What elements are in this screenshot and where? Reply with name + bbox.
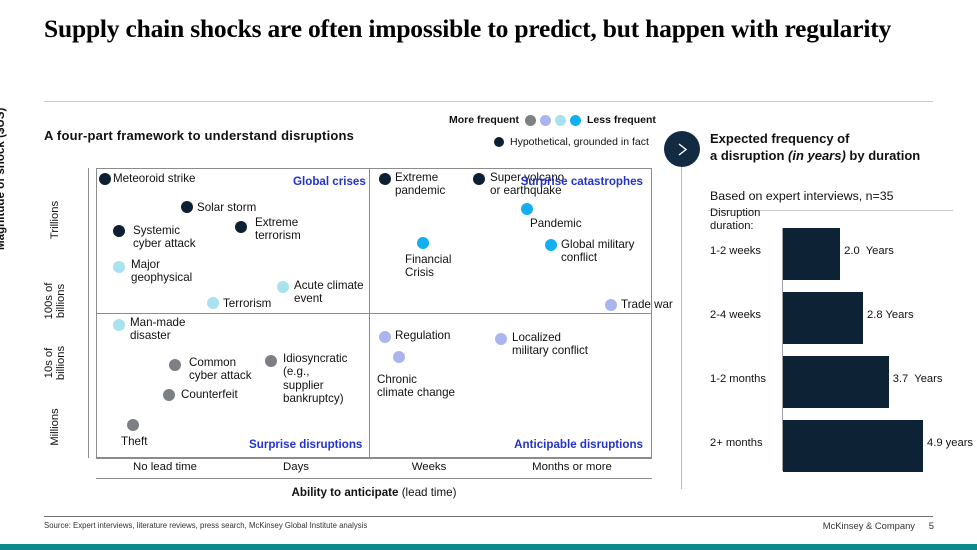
matrix-point-dot: [473, 173, 485, 185]
bar-value-label: 2.0 Years: [844, 245, 894, 257]
matrix-point-dot: [265, 355, 277, 367]
bar-value-label: 4.9 years: [927, 437, 973, 449]
frequency-bar-chart: 1-2 weeks2.0 Years2-4 weeks2.8 Years1-2 …: [710, 228, 955, 473]
hypothetical-legend: Hypothetical, grounded in fact: [494, 136, 649, 148]
matrix-point-dot: [127, 419, 139, 431]
frequency-legend: More frequent Less frequent: [449, 114, 656, 126]
bar-value-label: 2.8 Years: [867, 309, 914, 321]
matrix-point-label: Regulation: [395, 329, 450, 342]
bar-rect: [783, 356, 889, 408]
legend-dot-periwinkle: [540, 115, 551, 126]
matrix-point-dot: [169, 359, 181, 371]
x-axis-tick: No lead time: [95, 461, 235, 473]
bar-rect: [783, 420, 923, 472]
matrix-point-dot: [417, 237, 429, 249]
disruption-matrix: Meteoroid strikeSolar stormSystemic cybe…: [96, 168, 652, 458]
frequency-heading: Expected frequency of a disruption (in y…: [710, 130, 960, 164]
quadrant-label-global-crises: Global crises: [293, 175, 366, 188]
chevron-right-icon: [664, 131, 700, 167]
x-axis-title: Ability to anticipate (lead time): [96, 486, 652, 499]
title-divider: [44, 101, 933, 102]
page-title: Supply chain shocks are often impossible…: [44, 12, 914, 45]
matrix-point-dot: [545, 239, 557, 251]
matrix-point-dot: [113, 225, 125, 237]
matrix-point-label: Idiosyncratic (e.g., supplier bankruptcy…: [283, 352, 347, 406]
y-axis-tick: Millions: [49, 357, 61, 497]
quadrant-label-anticipable-disruptions: Anticipable disruptions: [514, 438, 643, 451]
x-axis-title-bold: Ability to anticipate: [292, 486, 399, 499]
x-axis-tick: Days: [226, 461, 366, 473]
matrix-point-dot: [113, 261, 125, 273]
frequency-heading-emphasis: (in years): [788, 148, 846, 163]
legend-dot-bright-blue: [570, 115, 581, 126]
bar-rect: [783, 228, 840, 280]
x-axis-line-bottom: [96, 478, 652, 479]
legend-less-frequent-label: Less frequent: [587, 114, 656, 126]
matrix-point-dot: [605, 299, 617, 311]
matrix-point-label: Acute climate event: [294, 279, 364, 306]
matrix-point-label: Terrorism: [223, 297, 271, 310]
matrix-point-dot: [163, 389, 175, 401]
legend-more-frequent-label: More frequent: [449, 114, 519, 126]
bar-category-label: 1-2 weeks: [710, 245, 776, 257]
matrix-point-dot: [99, 173, 111, 185]
y-axis-line: [88, 168, 89, 458]
bar-chart-row: 1-2 weeks2.0 Years: [710, 228, 955, 280]
slide: Supply chain shocks are often impossible…: [0, 0, 977, 550]
matrix-point-label: Major geophysical: [131, 258, 192, 285]
x-axis-tick: Months or more: [502, 461, 642, 473]
frequency-heading-line2a: a disruption: [710, 148, 788, 163]
frequency-heading-line1: Expected frequency of: [710, 131, 849, 146]
matrix-point-label: Meteoroid strike: [113, 172, 195, 185]
page-number: 5: [929, 520, 934, 531]
matrix-point-dot: [181, 201, 193, 213]
x-axis-title-rest: (lead time): [398, 486, 456, 499]
bottom-accent-bar: [0, 544, 977, 550]
legend-frequency-dots: [525, 115, 581, 126]
matrix-point-dot: [235, 221, 247, 233]
bar-category-label: 2-4 weeks: [710, 309, 776, 321]
matrix-point-label: Localized military conflict: [512, 331, 588, 358]
x-axis-line-top: [96, 458, 652, 459]
matrix-point-label: Theft: [121, 435, 147, 448]
matrix-point-label: Chronic climate change: [377, 373, 455, 400]
matrix-point-dot: [277, 281, 289, 293]
matrix-point-dot: [495, 333, 507, 345]
matrix-point-label: Trade war: [621, 298, 673, 311]
x-axis-tick: Weeks: [359, 461, 499, 473]
matrix-point-dot: [521, 203, 533, 215]
matrix-point-label: Extreme terrorism: [255, 216, 301, 243]
matrix-point-label: Extreme pandemic: [395, 171, 445, 198]
quadrant-label-surprise-disruptions: Surprise disruptions: [249, 438, 362, 451]
frequency-heading-line2b: by duration: [846, 148, 920, 163]
matrix-point-dot: [379, 173, 391, 185]
matrix-point-dot: [113, 319, 125, 331]
panel-divider: [681, 167, 682, 489]
bar-chart-row: 1-2 months3.7 Years: [710, 356, 955, 408]
brand-label: McKinsey & Company: [823, 520, 915, 531]
matrix-point-dot: [393, 351, 405, 363]
matrix-point-label: Solar storm: [197, 201, 256, 214]
matrix-point-label: Financial Crisis: [405, 253, 451, 280]
matrix-point-label: Man-made disaster: [130, 316, 185, 343]
matrix-point-label: Global military conflict: [561, 238, 634, 265]
bar-rect: [783, 292, 863, 344]
legend-dot-hypothetical: [494, 137, 504, 147]
matrix-point-label: Common cyber attack: [189, 356, 252, 383]
y-axis-title: Magnitude of shock ($US): [0, 108, 7, 250]
bar-chart-row: 2+ months4.9 years: [710, 420, 955, 472]
source-note: Source: Expert interviews, literature re…: [44, 521, 367, 530]
footer-divider: [44, 516, 933, 517]
matrix-point-dot: [379, 331, 391, 343]
framework-heading: A four-part framework to understand disr…: [44, 128, 354, 143]
matrix-point-label: Counterfeit: [181, 388, 238, 401]
bar-category-label: 1-2 months: [710, 373, 776, 385]
matrix-point-dot: [207, 297, 219, 309]
bar-chart-row: 2-4 weeks2.8 Years: [710, 292, 955, 344]
legend-hypothetical-label: Hypothetical, grounded in fact: [510, 136, 649, 148]
matrix-point-label: Systemic cyber attack: [133, 224, 196, 251]
matrix-point-label: Pandemic: [530, 217, 582, 230]
bar-value-label: 3.7 Years: [893, 373, 943, 385]
frequency-subtitle: Based on expert interviews, n=35: [710, 189, 894, 203]
bar-category-label: 2+ months: [710, 437, 776, 449]
quadrant-label-surprise-catastrophes: Surprise catastrophes: [521, 175, 643, 188]
legend-dot-gray: [525, 115, 536, 126]
matrix-horizontal-divider: [97, 313, 651, 314]
legend-dot-light-cyan: [555, 115, 566, 126]
